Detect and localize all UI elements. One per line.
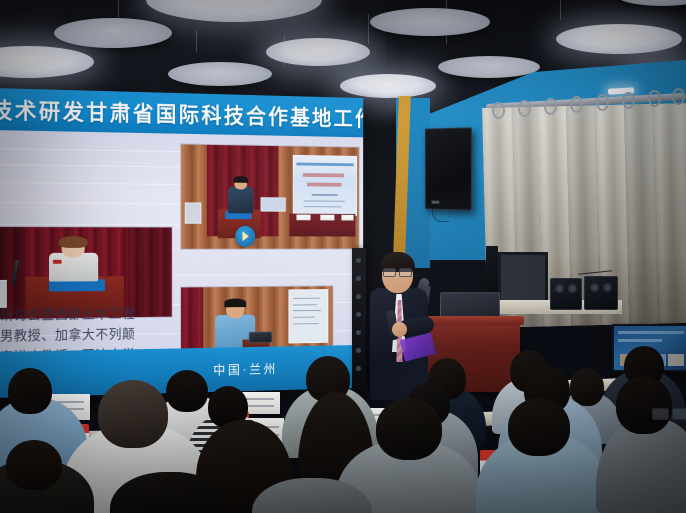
screen-bottom-text: 中国·兰州 (213, 359, 278, 379)
presenter-hand (392, 322, 407, 337)
inset-photo-podium-speaker (180, 143, 360, 249)
light-wire (560, 0, 561, 20)
side-column (352, 248, 366, 390)
speaker-cable (432, 205, 449, 222)
inset-name-card (296, 215, 310, 220)
ceiling-light (266, 38, 370, 66)
audience-member-head (376, 398, 442, 460)
inset-name-card (321, 215, 335, 220)
audience-member-head (616, 376, 672, 434)
inset-slide (293, 155, 357, 217)
stage-monitor-speaker (550, 278, 582, 310)
audience-member-head (6, 440, 62, 490)
projection-screen: 术研讨会暨西部土木工程 京男教授、加拿大不列颠 省客讲座教授、同济大学 中国·兰… (0, 88, 363, 398)
conference-room-photo: 术研讨会暨西部土木工程 京男教授、加拿大不列颠 省客讲座教授、同济大学 中国·兰… (0, 0, 686, 513)
curtain-grommet (492, 102, 505, 119)
curtain-grommet (672, 88, 685, 105)
audience-member-head (166, 370, 208, 412)
curtain-grommet (596, 94, 609, 111)
ceiling-light (168, 62, 272, 86)
audience-member-head (8, 368, 52, 414)
inset-name-card (342, 215, 354, 220)
light-wire (368, 14, 369, 44)
curtain-grommet (648, 90, 661, 107)
audience-member-head (508, 398, 570, 456)
glasses-icon (383, 268, 411, 275)
curtain-grommet (570, 96, 583, 113)
screen-banner-title: 建技术研发甘肃省国际科技合作基地工作总结 (0, 92, 363, 134)
ceiling-light (54, 18, 172, 48)
curtain-grommet (518, 100, 531, 117)
glasses-icon (652, 408, 686, 418)
curtain-grommet (622, 92, 635, 109)
stage-monitor-speaker (584, 276, 618, 310)
light-wire (196, 30, 197, 52)
ceiling-light (340, 74, 436, 98)
curtain-grommet (544, 98, 557, 115)
ceiling-light (370, 8, 490, 36)
audience-member-head (98, 380, 168, 448)
ceiling-light (556, 24, 682, 54)
wall-speaker-icon (425, 127, 472, 210)
ceiling-light (438, 56, 540, 78)
audience-member-head (570, 368, 604, 406)
